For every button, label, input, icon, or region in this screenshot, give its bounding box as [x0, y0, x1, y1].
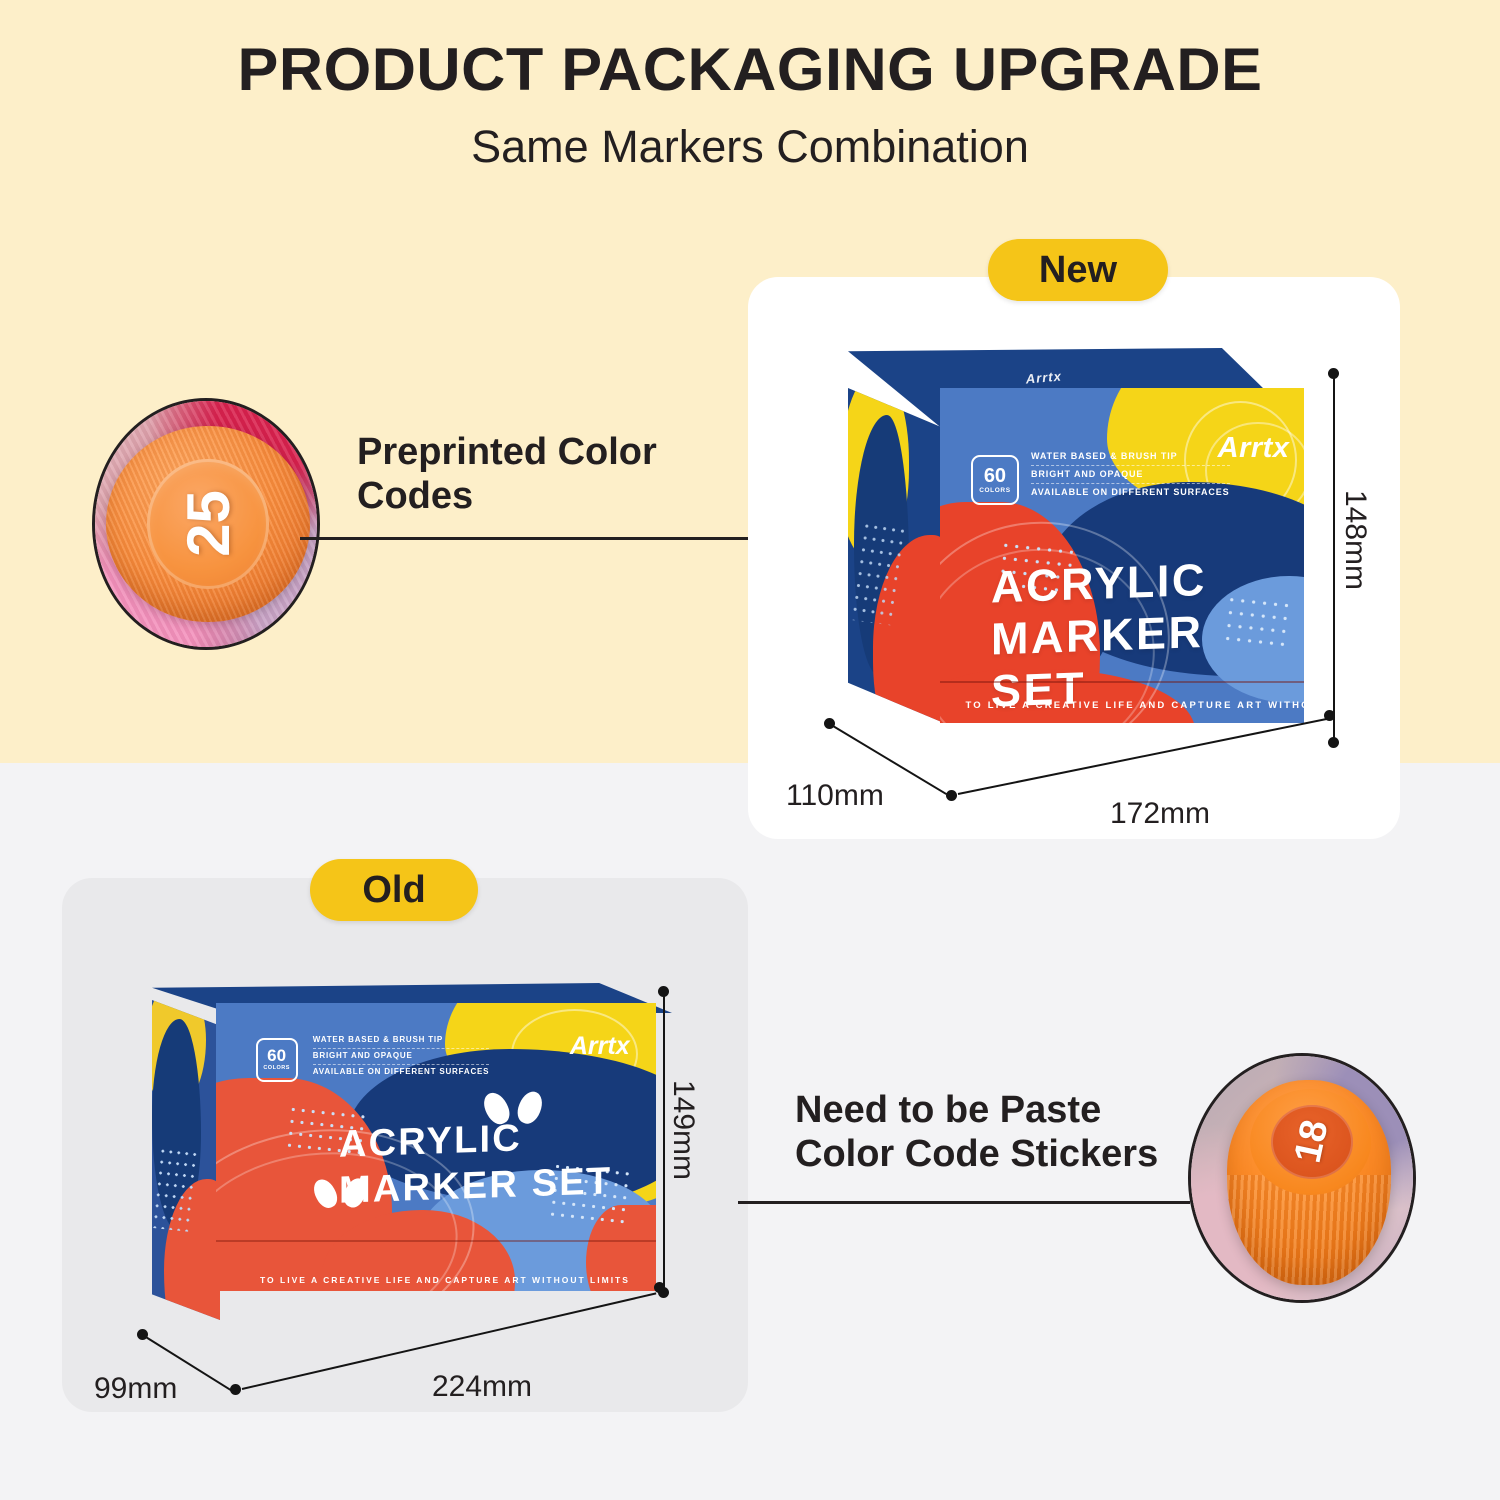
- badge-old: Old: [310, 859, 478, 921]
- old-box-tagline: TO LIVE A CREATIVE LIFE AND CAPTURE ART …: [260, 1275, 630, 1285]
- color-count-number: 60: [984, 466, 1006, 486]
- new-dim-height-dot-top: [1328, 368, 1339, 379]
- new-dim-depth-dot-bottom: [946, 790, 957, 801]
- old-dim-width-dot-right: [654, 1282, 665, 1293]
- old-box-front-face: Arrtx 60 COLORS WATER BASED & BRUSH TIP …: [216, 1003, 656, 1291]
- feature-item: WATER BASED & BRUSH TIP: [313, 1036, 490, 1049]
- old-dim-depth-label: 99mm: [94, 1372, 177, 1406]
- old-box-product-title: ACRYLIC MARKER SET: [339, 1113, 612, 1214]
- old-dim-height-line: [663, 991, 665, 1292]
- new-box-lid-seam: [940, 681, 1304, 683]
- new-dim-depth-label: 110mm: [786, 779, 884, 813]
- page-title: PRODUCT PACKAGING UPGRADE: [0, 38, 1500, 102]
- new-dim-depth-dot-top: [824, 718, 835, 729]
- old-box-brand: Arrtx: [570, 1032, 630, 1061]
- feature-item: BRIGHT AND OPAQUE: [313, 1052, 490, 1065]
- new-dim-height-label: 148mm: [1338, 490, 1372, 590]
- cap-25-number: 25: [174, 491, 243, 558]
- callout-left-connector-line: [300, 537, 748, 540]
- cap-18-body: 18: [1227, 1080, 1391, 1285]
- new-dim-width-label: 172mm: [1110, 797, 1210, 831]
- color-count-unit: COLORS: [979, 488, 1010, 495]
- new-dim-width-dot-right: [1324, 710, 1335, 721]
- new-dim-height-dot-bottom: [1328, 737, 1339, 748]
- badge-new-label: New: [1039, 249, 1117, 292]
- new-dim-height-line: [1333, 373, 1335, 742]
- feature-item: AVAILABLE ON DIFFERENT SURFACES: [1031, 488, 1230, 501]
- new-box-side-face: [848, 388, 944, 723]
- old-box-color-count-badge: 60 COLORS: [256, 1038, 298, 1082]
- color-count-unit: COLORS: [263, 1066, 290, 1072]
- callout-preprinted-color-codes-label: Preprinted Color Codes: [357, 430, 687, 518]
- old-box-lid-seam: [216, 1240, 656, 1242]
- callout-right-connector-line: [738, 1201, 1190, 1204]
- new-box-top-logo: Arrtx: [1025, 369, 1063, 387]
- new-box-tagline: TO LIVE A CREATIVE LIFE AND CAPTURE ART …: [965, 700, 1304, 711]
- new-box-feature-list: WATER BASED & BRUSH TIP BRIGHT AND OPAQU…: [1031, 452, 1230, 505]
- callout-paste-stickers-label: Need to be Paste Color Code Stickers: [795, 1088, 1195, 1176]
- header: PRODUCT PACKAGING UPGRADE Same Markers C…: [0, 38, 1500, 171]
- marker-cap-25-photo: 25: [92, 398, 320, 650]
- old-box-side-face: [152, 1000, 220, 1320]
- old-dim-height-label: 149mm: [666, 1080, 700, 1180]
- new-box-color-count-badge: 60 COLORS: [971, 455, 1019, 505]
- marker-cap-18-photo: 18: [1188, 1053, 1416, 1303]
- cap-25-outer-ring: 25: [106, 426, 310, 623]
- old-dim-width-label: 224mm: [432, 1370, 532, 1404]
- cap-18-number: 18: [1286, 1117, 1337, 1167]
- feature-item: BRIGHT AND OPAQUE: [1031, 470, 1230, 484]
- old-dim-depth-dot-bottom: [230, 1384, 241, 1395]
- new-box-product-title: ACRYLIC MARKER SET: [991, 550, 1304, 717]
- color-count-number: 60: [267, 1047, 286, 1064]
- new-box-front-face: Arrtx 60 COLORS WATER BASED & BRUSH TIP …: [940, 388, 1304, 723]
- feature-item: WATER BASED & BRUSH TIP: [1031, 452, 1230, 466]
- old-dim-height-dot-top: [658, 986, 669, 997]
- cap-25-inner-disc: 25: [147, 459, 270, 589]
- cap-18-sticker-disc: 18: [1271, 1105, 1353, 1179]
- page-subtitle: Same Markers Combination: [0, 122, 1500, 172]
- badge-new: New: [988, 239, 1168, 301]
- old-box-feature-list: WATER BASED & BRUSH TIP BRIGHT AND OPAQU…: [313, 1036, 490, 1083]
- feature-item: AVAILABLE ON DIFFERENT SURFACES: [313, 1068, 490, 1080]
- badge-old-label: Old: [362, 869, 425, 912]
- old-dim-depth-dot-top: [137, 1329, 148, 1340]
